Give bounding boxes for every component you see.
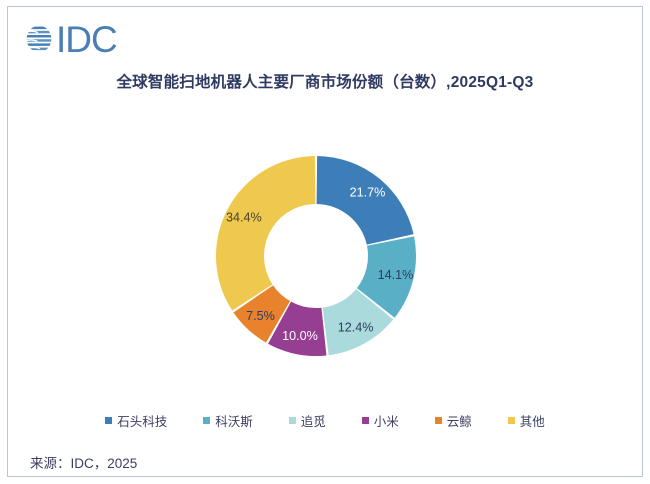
legend-swatch-icon [508, 417, 515, 424]
legend-item-label: 小米 [374, 411, 399, 430]
legend-item[interactable]: 追觅 [289, 411, 326, 430]
idc-logo: IDC [24, 18, 117, 60]
donut-svg: 21.7%14.1%12.4%10.0%7.5%34.4% [213, 153, 419, 359]
legend-item[interactable]: 小米 [362, 411, 399, 430]
legend-swatch-icon [435, 417, 442, 424]
donut-slices [216, 156, 416, 356]
legend-swatch-icon [203, 417, 210, 424]
legend-item-label: 石头科技 [117, 411, 167, 430]
donut-slice-label: 7.5% [246, 309, 275, 323]
source-note: 来源：IDC，2025 [30, 452, 137, 472]
donut-slice-label: 34.4% [226, 210, 262, 224]
donut-slice-label: 10.0% [282, 329, 318, 343]
idc-globe-icon [24, 23, 54, 55]
donut-slice[interactable] [317, 156, 414, 245]
chart-legend: 石头科技科沃斯追觅小米云鲸其他 [0, 411, 650, 430]
legend-item-label: 追觅 [301, 411, 326, 430]
donut-slice[interactable] [216, 156, 315, 311]
donut-slice-label: 21.7% [350, 185, 386, 199]
legend-item-label: 科沃斯 [215, 411, 253, 430]
legend-item-label: 云鲸 [447, 411, 472, 430]
legend-item[interactable]: 云鲸 [435, 411, 472, 430]
donut-slice-label: 12.4% [338, 321, 374, 335]
donut-slice-label: 14.1% [378, 268, 414, 282]
legend-item[interactable]: 其他 [508, 411, 545, 430]
legend-item[interactable]: 科沃斯 [203, 411, 253, 430]
legend-swatch-icon [105, 417, 112, 424]
legend-item[interactable]: 石头科技 [105, 411, 167, 430]
legend-item-label: 其他 [520, 411, 545, 430]
chart-title: 全球智能扫地机器人主要厂商市场份额（台数）,2025Q1-Q3 [0, 70, 650, 92]
idc-wordmark: IDC [56, 21, 117, 58]
legend-swatch-icon [362, 417, 369, 424]
legend-swatch-icon [289, 417, 296, 424]
chart-card: IDC 全球智能扫地机器人主要厂商市场份额（台数）,2025Q1-Q3 21.7… [0, 0, 650, 484]
donut-chart: 21.7%14.1%12.4%10.0%7.5%34.4% [213, 153, 419, 359]
